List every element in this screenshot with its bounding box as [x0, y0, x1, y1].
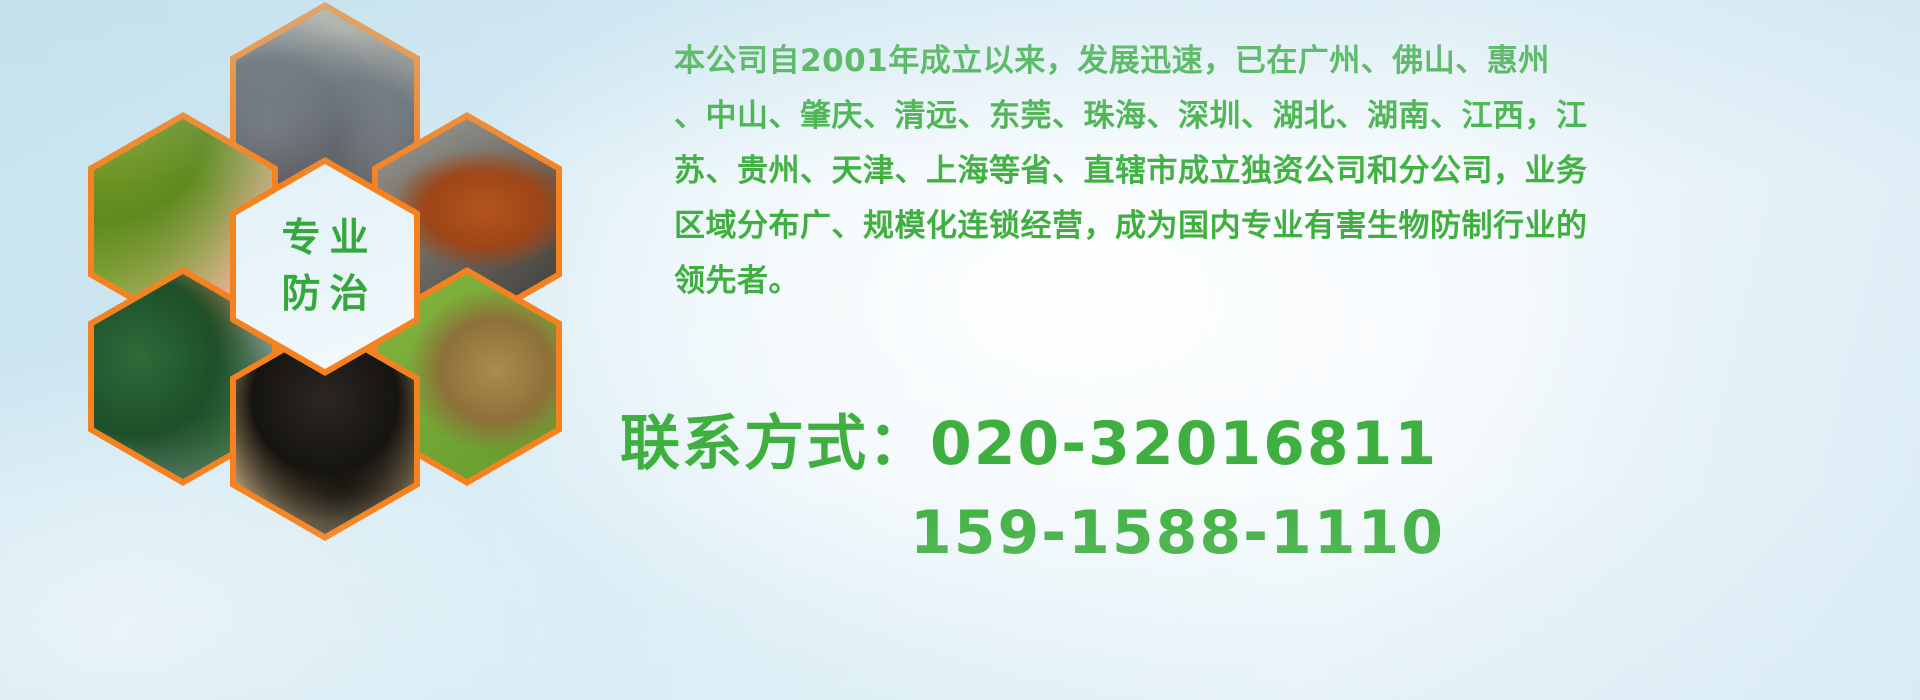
contact-phone-landline[interactable]: 联系方式：020-32016811	[620, 395, 1910, 482]
description-line: 苏、贵州、天津、上海等省、直辖市成立独资公司和分公司，业务	[612, 144, 1912, 199]
description-line: 、中山、肇庆、清远、东莞、珠海、深圳、湖北、湖南、江西，江	[612, 89, 1912, 144]
slogan-line-2: 防治	[272, 267, 377, 322]
contact-phone-mobile[interactable]: 159-1588-1110	[620, 498, 1910, 568]
company-description: 本公司自2001年成立以来，发展迅速，已在广州、佛山、惠州 、中山、肇庆、清远、…	[612, 34, 1912, 309]
description-line: 领先者。	[612, 254, 1912, 309]
banner-root: 专业 防治 本公司自2001年成立以来，发展迅速，已在广州、佛山、惠州 、中山、…	[0, 0, 1920, 700]
slogan-line-1: 专业	[272, 211, 377, 266]
description-line: 区域分布广、规模化连锁经营，成为国内专业有害生物防制行业的	[612, 199, 1912, 254]
description-line: 本公司自2001年成立以来，发展迅速，已在广州、佛山、惠州	[612, 34, 1912, 89]
contact-block: 联系方式：020-32016811 159-1588-1110	[620, 395, 1910, 568]
slogan-frame: 专业 防治	[236, 164, 414, 369]
honeycomb-gallery: 专业 防治	[80, 0, 600, 572]
